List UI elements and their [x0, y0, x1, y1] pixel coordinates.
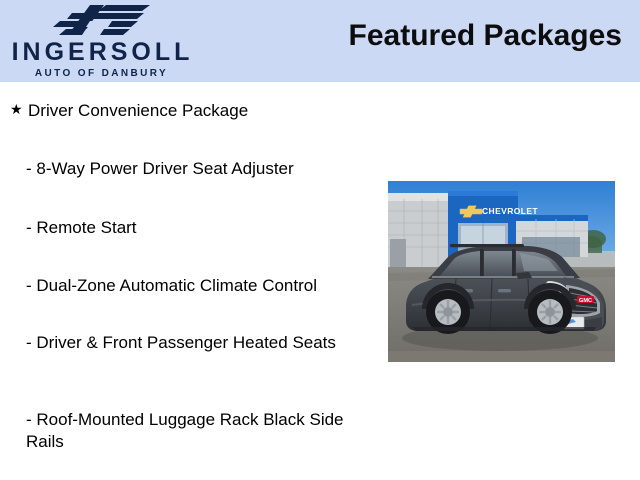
- page-title: Featured Packages: [349, 21, 622, 51]
- ingersoll-winged-emblem-icon: [46, 4, 156, 38]
- list-item: - Roof-Mounted Luggage Rack Black Side R…: [26, 409, 346, 453]
- list-item: - Remote Start: [26, 217, 346, 239]
- slide-body: ★Driver Convenience Package - 8-Way Powe…: [0, 82, 640, 480]
- list-item: - Driver & Front Passenger Heated Seats: [26, 332, 346, 354]
- page-header: INGERSOLL AUTO OF DANBURY Featured Packa…: [0, 0, 640, 82]
- package-title-row: ★Driver Convenience Package: [10, 101, 370, 122]
- vehicle-badge-text: GMC: [579, 298, 592, 304]
- package-title: Driver Convenience Package: [28, 101, 248, 120]
- list-item: - Dual-Zone Automatic Climate Control: [26, 275, 346, 297]
- brand-logo: INGERSOLL AUTO OF DANBURY: [0, 2, 210, 82]
- vehicle-photo: CHEVROLET: [388, 181, 615, 362]
- list-item: - 8-Way Power Driver Seat Adjuster: [26, 158, 346, 180]
- dealership-sign-text: CHEVROLET: [482, 206, 538, 216]
- brand-wordmark: INGERSOLL: [0, 40, 205, 65]
- brand-subwordmark: AUTO OF DANBURY: [0, 69, 203, 79]
- star-bullet-icon: ★: [10, 101, 28, 118]
